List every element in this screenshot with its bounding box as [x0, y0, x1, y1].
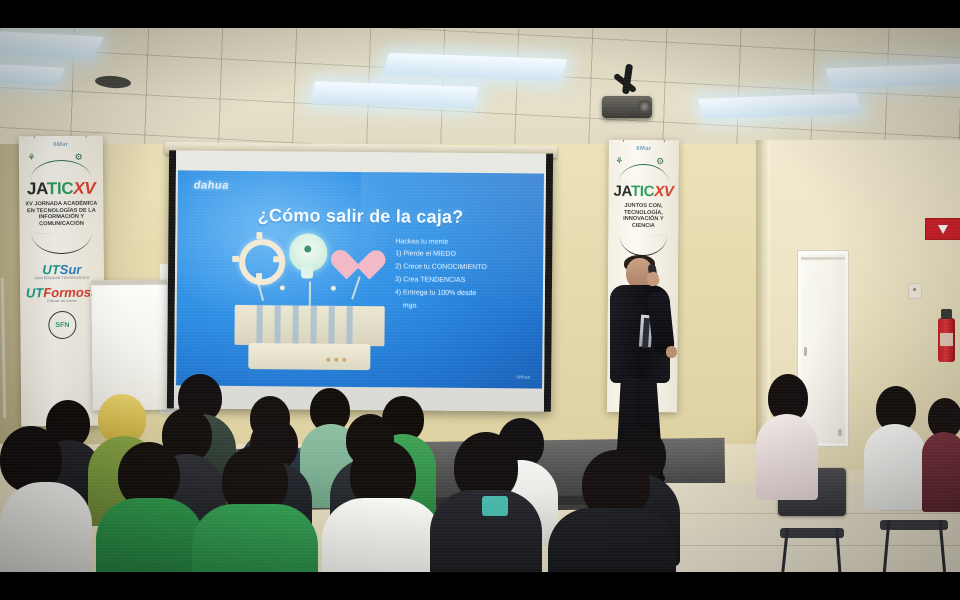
slide-bullets-heading: Hackea tu mente: [395, 238, 523, 246]
gear-icon: [239, 239, 285, 285]
exit-arrow-icon: [938, 225, 948, 234]
door-edge-detail: [804, 347, 807, 356]
slide-title: ¿Cómo salir de la caja?: [177, 204, 543, 228]
wire-line: [309, 282, 311, 306]
audience-member: [756, 374, 818, 496]
list-item: 4) Entrega tu 100% desde: [395, 288, 523, 300]
projector-lens: [638, 100, 651, 113]
banner-left-decoration: ⚘ ⚙: [23, 150, 99, 181]
arc-line: [32, 233, 92, 255]
door-top-trim: [801, 257, 845, 260]
lanyard: [482, 496, 508, 516]
audience-member: [430, 432, 542, 572]
banner-left-subtitle: XV JORNADA ACADÉMICA EN TECNOLOGÍAS DE L…: [19, 201, 103, 228]
arc-line: [619, 235, 667, 256]
banner-right-subtitle: JUNTOS CON, TECNOLOGÍA, INNOVACIÓN Y CIE…: [608, 203, 678, 230]
letterbox-bottom: [0, 572, 960, 600]
list-item: 3) Crea TENDENCIAS: [395, 275, 523, 287]
presenter-hand-lower: [666, 346, 677, 358]
banner-right-title: JATICXV: [609, 184, 679, 199]
wire-node: [280, 285, 285, 290]
ceiling-light: [0, 64, 66, 86]
bulb-sprout-icon: ⚙: [75, 152, 83, 163]
banner-left-arc: [28, 233, 96, 256]
wire-line: [351, 276, 361, 299]
audience-member: [922, 398, 960, 508]
slide-illustration: [234, 233, 385, 370]
photo-scene: 6Mar ⚘ ⚙ JATICXV XV JORNADA ACADÉMICA EN…: [0, 0, 960, 600]
fire-extinguisher-valve: [941, 309, 952, 319]
banner-right-arc: [616, 235, 670, 257]
slide-bullet-list: 1) Pierde el MIEDO 2) Crece tu CONOCIMIE…: [395, 249, 524, 313]
slide-bullet-block: Hackea tu mente 1) Pierde el MIEDO 2) Cr…: [395, 238, 524, 315]
audience-member: [322, 440, 442, 572]
audience-member: [864, 386, 926, 504]
banner-left-logo-utsur: UTSur: [20, 263, 104, 277]
box-base: [248, 343, 370, 370]
presenter-hand: [646, 271, 661, 287]
banner-left-top-mark: 6Mar: [19, 142, 103, 149]
sprout-icon: ⚘: [615, 156, 623, 167]
lightbulb-filament: [304, 246, 311, 253]
sprout-icon: ⚘: [27, 152, 35, 163]
wall-outlet: [908, 283, 922, 299]
audience-member: [192, 446, 318, 572]
door-handle[interactable]: [838, 429, 842, 436]
list-item: 2) Crece tu CONOCIMIENTO: [395, 262, 523, 274]
presentation-slide: dahua ¿Cómo salir de la caja?: [176, 170, 544, 388]
wire-node: [331, 286, 336, 291]
letterbox-top: [0, 0, 960, 28]
banner-right-decoration: ⚘ ⚙: [613, 154, 675, 184]
banner-left-title: JATICXV: [19, 180, 103, 198]
exit-sign: [925, 218, 960, 240]
list-item: mgo.: [403, 301, 523, 313]
flipchart-clamp: [91, 280, 167, 286]
audience-member: [0, 426, 92, 572]
photograph: 6Mar ⚘ ⚙ JATICXV XV JORNADA ACADÉMICA EN…: [0, 28, 960, 572]
projection-screen: dahua ¿Cómo salir de la caja?: [167, 150, 553, 411]
heart-icon: [341, 238, 375, 270]
banner-cord: [664, 140, 665, 142]
audience-member: [96, 442, 204, 572]
banner-cord: [86, 136, 87, 138]
flipchart-pad: [91, 280, 168, 411]
wall-outlet-screw: [913, 288, 916, 291]
slide-credit: dahua: [516, 374, 530, 380]
lightbulb-base: [301, 266, 313, 278]
list-item: 1) Pierde el MIEDO: [395, 249, 523, 261]
banner-cord: [623, 140, 624, 142]
bulb-sprout-icon: ⚙: [656, 156, 664, 167]
banner-cord: [34, 136, 35, 139]
fire-extinguisher-label: [940, 333, 953, 346]
ceiling-light: [0, 31, 104, 59]
banner-left-seal: SFN: [48, 311, 76, 339]
dahua-logo: dahua: [194, 180, 229, 192]
ceiling-projector-icon: [600, 64, 656, 120]
banner-right-top-mark: 6Mar: [609, 146, 679, 152]
audience-member: [548, 450, 676, 572]
